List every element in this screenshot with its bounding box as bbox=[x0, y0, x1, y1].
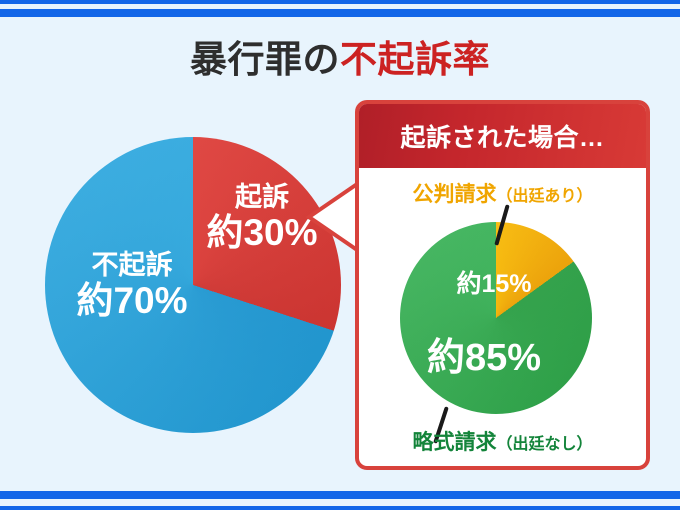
legend-formal-trial: 公判請求（出廷あり） bbox=[359, 178, 646, 208]
top-rule-thick bbox=[0, 9, 680, 17]
bottom-rule-thin bbox=[0, 506, 680, 510]
card-body: 公判請求（出廷あり） 約15% 約85% 略式請求（出廷なし） bbox=[359, 168, 646, 466]
legend-summary-order-note: （出廷なし） bbox=[496, 436, 592, 453]
outer-pie-slice-label-not-prosecuted: 不起訴 約70% bbox=[52, 250, 212, 322]
outer-pie-slice-value-not-prosecuted: 約70% bbox=[52, 280, 212, 321]
card-header: 起訴された場合… bbox=[359, 104, 646, 168]
prosecution-breakdown-card: 起訴された場合… 公判請求（出廷あり） 約15% 約85% 略式請求（出廷なし） bbox=[355, 100, 650, 470]
legend-formal-trial-note: （出廷あり） bbox=[496, 188, 592, 205]
inner-pie-chart bbox=[400, 222, 592, 414]
outer-pie-slice-name-not-prosecuted: 不起訴 bbox=[52, 250, 212, 280]
bottom-rule-thick bbox=[0, 491, 680, 499]
page-title-prefix: 暴行罪の bbox=[190, 39, 340, 80]
legend-formal-trial-main: 公判請求 bbox=[412, 183, 496, 206]
page-title-accent: 不起訴率 bbox=[340, 39, 490, 80]
inner-pie-slice-value-formal: 約15% bbox=[429, 264, 559, 300]
top-rule-thin bbox=[0, 0, 680, 4]
inner-pie-slice-value-summary: 約85% bbox=[404, 326, 564, 381]
page-title: 暴行罪の不起訴率 bbox=[0, 29, 680, 83]
legend-summary-order-main: 略式請求 bbox=[412, 431, 496, 454]
legend-summary-order: 略式請求（出廷なし） bbox=[359, 426, 646, 456]
